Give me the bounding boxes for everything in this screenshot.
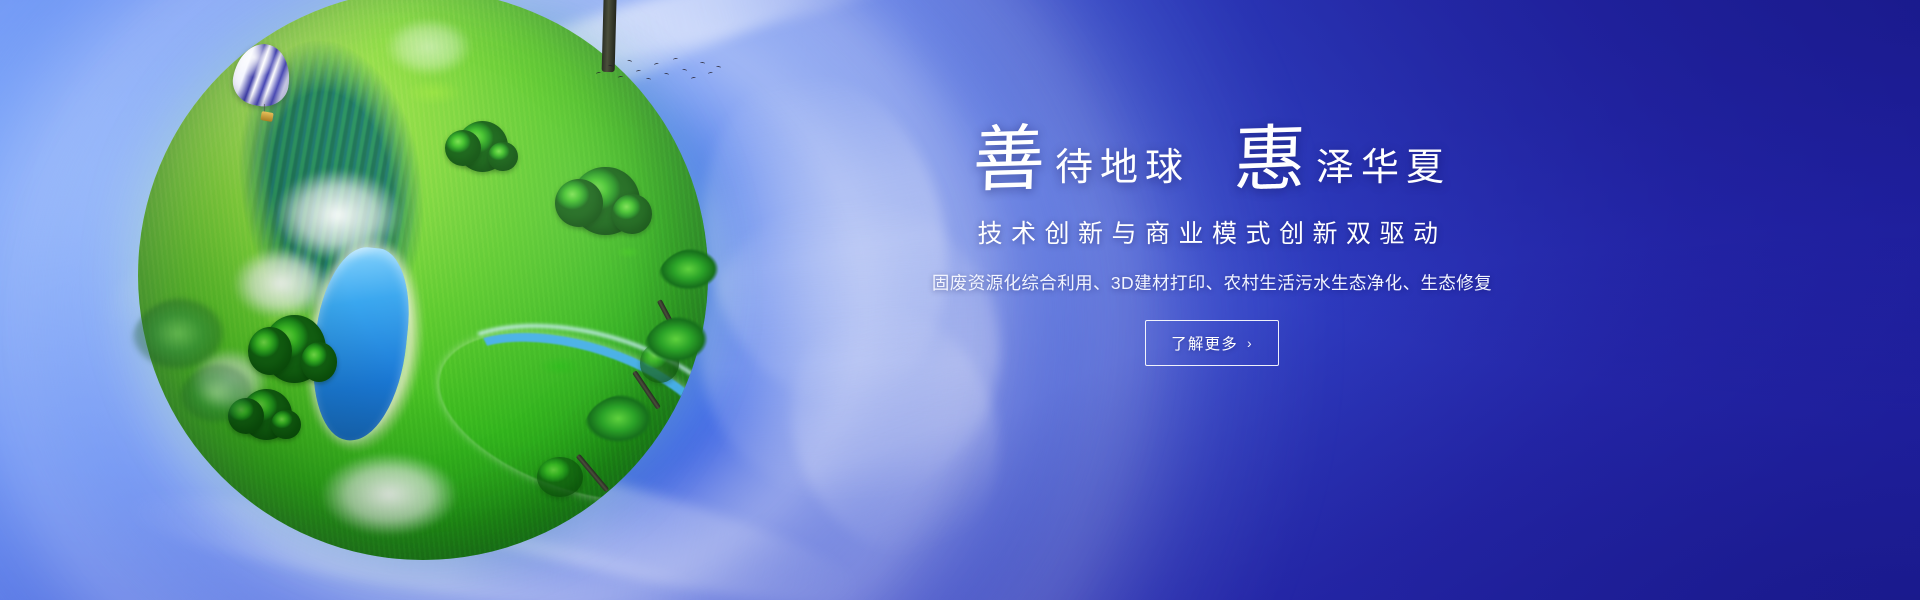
cta-row: 了解更多 › — [862, 320, 1562, 366]
bird-icon — [646, 78, 651, 82]
lake-shoreline — [285, 217, 440, 469]
bush-icon — [263, 315, 326, 383]
chevron-right-icon: › — [1247, 335, 1253, 351]
bird-icon — [627, 59, 633, 63]
headline-accent-char-1: 善 — [972, 125, 1046, 193]
bird-icon — [716, 66, 721, 70]
hero-copy: 善 待地球 惠 泽华夏 技术创新与商业模式创新双驱动 固废资源化综合利用、3D建… — [862, 126, 1562, 366]
bird-icon — [708, 71, 714, 75]
bird-icon — [608, 65, 613, 69]
headline-accent-char-2: 惠 — [1233, 125, 1307, 193]
bird-icon — [618, 76, 623, 80]
tree-canopy — [658, 248, 738, 310]
bush-icon — [457, 121, 508, 172]
headline-rest-2: 泽华夏 — [1316, 148, 1451, 192]
learn-more-button[interactable]: 了解更多 › — [1145, 320, 1279, 366]
bush-icon — [571, 167, 639, 235]
bird-icon — [691, 77, 697, 81]
bird-flock-icon — [594, 52, 724, 86]
headline-rest-1: 待地球 — [1055, 148, 1190, 192]
bird-icon — [700, 62, 705, 66]
hot-air-balloon-icon — [234, 44, 290, 124]
tree-canopy — [644, 316, 728, 384]
tree-canopy — [584, 394, 674, 466]
bird-icon — [596, 71, 602, 75]
lake-icon — [305, 242, 416, 444]
balloon-basket — [260, 111, 273, 122]
page-title: 善 待地球 惠 泽华夏 — [862, 126, 1562, 192]
tree-icon — [568, 394, 678, 504]
cloud-icon — [224, 241, 338, 327]
bird-icon — [664, 73, 670, 77]
cloud-icon — [377, 13, 480, 81]
bird-icon — [682, 68, 688, 72]
tree-icon-silhouette — [178, 362, 274, 448]
hero-description: 固废资源化综合利用、3D建材打印、农村生活污水生态净化、生态修复 — [862, 270, 1562, 295]
headline-phrase-2: 惠 泽华夏 — [1234, 126, 1451, 192]
cloud-icon — [263, 161, 411, 269]
cloud-icon — [309, 446, 469, 543]
hero-banner: 善 待地球 惠 泽华夏 技术创新与商业模式创新双驱动 固废资源化综合利用、3D建… — [0, 0, 1920, 600]
bird-icon — [636, 70, 641, 74]
hero-subtitle: 技术创新与商业模式创新双驱动 — [862, 214, 1562, 250]
balloon-envelope — [229, 40, 295, 111]
bird-icon — [654, 62, 660, 66]
bird-icon — [673, 58, 678, 62]
learn-more-label: 了解更多 — [1171, 332, 1238, 354]
headline-phrase-1: 善 待地球 — [973, 126, 1190, 192]
